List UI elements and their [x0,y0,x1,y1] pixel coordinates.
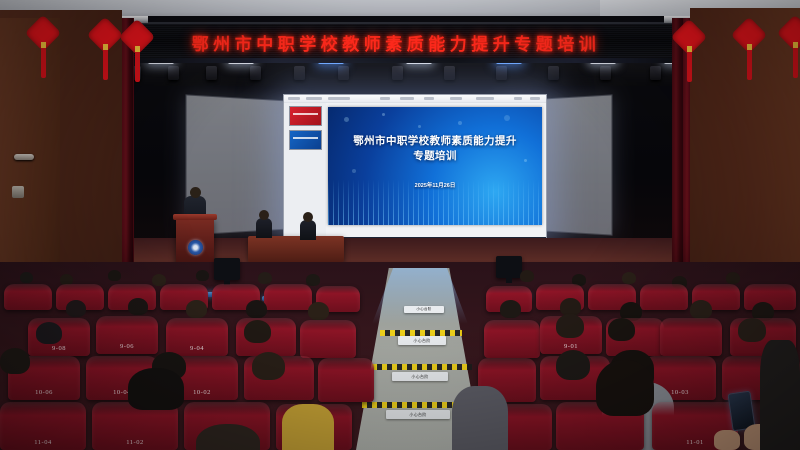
audience-person [108,270,121,281]
chinese-knot-icon [92,22,118,48]
auditorium-seat [660,318,722,356]
door-handle-icon[interactable] [14,154,34,160]
chinese-knot-icon [676,24,702,50]
audience-person [196,270,209,281]
audience-person [500,300,521,318]
audience-person [452,386,508,450]
audience-person [152,274,166,286]
stage-spotlight-icon [294,66,305,80]
stage-seated-person [256,218,272,238]
chinese-knot-icon [124,24,150,50]
audience-person [244,320,271,343]
slide-thumbnail[interactable] [289,106,322,126]
stage-spotlight-icon [250,66,261,80]
auditorium-seat [640,284,688,310]
chinese-knot-icon [30,20,56,46]
seat-number: 9-01 [540,343,602,350]
auditorium-seat [484,320,540,358]
audience-person [738,318,766,342]
seat-number: 9-06 [96,343,158,350]
hazard-step-stripe [372,364,472,370]
step-caution-sign: 小心台阶 [404,306,444,313]
seat-number: 11-04 [0,439,86,446]
audience-person [308,302,329,320]
audience-person [726,272,740,284]
audience-person [556,314,584,338]
stage-spotlight-icon [444,66,455,80]
auditorium-seat [4,284,52,310]
audience-person [128,298,148,315]
stage-seated-person [300,220,316,240]
audience-person [196,424,260,450]
audience-person [608,318,635,341]
banner-under-lights [96,58,696,63]
seat-number: 11-02 [92,439,178,446]
head-table [248,236,344,262]
audience-person [0,348,30,374]
stage-spotlight-icon [600,66,611,80]
auditorium-seat: 9-06 [96,316,158,354]
slide-date: 2025年11月26日 [328,181,542,189]
audience-person [66,300,86,317]
audience-person [520,270,534,282]
auditorium-seat [318,358,374,402]
conference-hall-photo: 鄂州市中职学校教师素质能力提升专题培训 [0,0,800,450]
audience-person [186,300,207,318]
stage-spotlight-icon [392,66,403,80]
slide-title: 鄂州市中职学校教师素质能力提升 专题培训 [334,134,536,164]
front-monitor [214,258,240,280]
led-banner-text: 鄂州市中职学校教师素质能力提升专题培训 [192,30,601,55]
audience-person [36,322,62,344]
stage-spotlight-icon [548,66,559,80]
slide-canvas[interactable]: 鄂州市中职学校教师素质能力提升 专题培训 2025年11月26日 [326,103,546,244]
audience-person [306,274,320,286]
chinese-knot-icon [782,20,800,46]
audience-person [556,350,590,380]
audience-person [760,340,800,450]
audience-person [252,352,285,380]
front-monitor [496,256,522,278]
slide-title-line-1: 鄂州市中职学校教师素质能力提升 [334,134,536,149]
step-caution-sign: 小心台阶 [398,336,446,345]
podium-top [173,214,217,220]
audience-person [282,404,334,450]
stage-spotlight-icon [168,66,179,80]
projection-screen: 鄂州市中职学校教师素质能力提升 专题培训 2025年11月26日 [283,94,547,244]
slide-title-line-2: 专题培训 [334,149,536,164]
audience-person [258,272,272,284]
chinese-knot-icon [736,22,762,48]
slide-thumbnail[interactable] [289,130,322,150]
auditorium-seat: 11-04 [0,402,86,450]
speaker-head [190,187,201,198]
audience-person [690,300,712,319]
audience-person [246,300,267,318]
current-slide: 鄂州市中职学校教师素质能力提升 专题培训 2025年11月26日 [328,107,542,225]
hand [714,430,740,450]
stage-spotlight-icon [338,66,349,80]
podium-emblem-icon [188,240,203,255]
step-caution-sign: 小心台阶 [386,410,450,419]
auditorium-seat [300,320,356,358]
audience-person [622,272,636,284]
step-caution-sign: 小心台阶 [392,372,448,381]
auditorium-seat [264,284,312,310]
seat-number: 9-08 [28,345,90,352]
audience-person [596,360,654,416]
stage-spotlight-icon [650,66,661,80]
seat-number: 9-04 [166,345,228,352]
seat-number: 10-06 [8,389,80,396]
stage-spotlight-icon [206,66,217,80]
audience-person [128,368,184,410]
door-plate-icon [12,186,24,198]
auditorium-seat: 9-04 [166,318,228,356]
stage-spotlight-icon [496,66,507,80]
led-banner: 鄂州市中职学校教师素质能力提升专题培训 [96,22,697,62]
presentation-app-ribbon [284,95,546,103]
audience-person [20,272,33,283]
presentation-app-body: 鄂州市中职学校教师素质能力提升 专题培训 2025年11月26日 [284,103,546,244]
